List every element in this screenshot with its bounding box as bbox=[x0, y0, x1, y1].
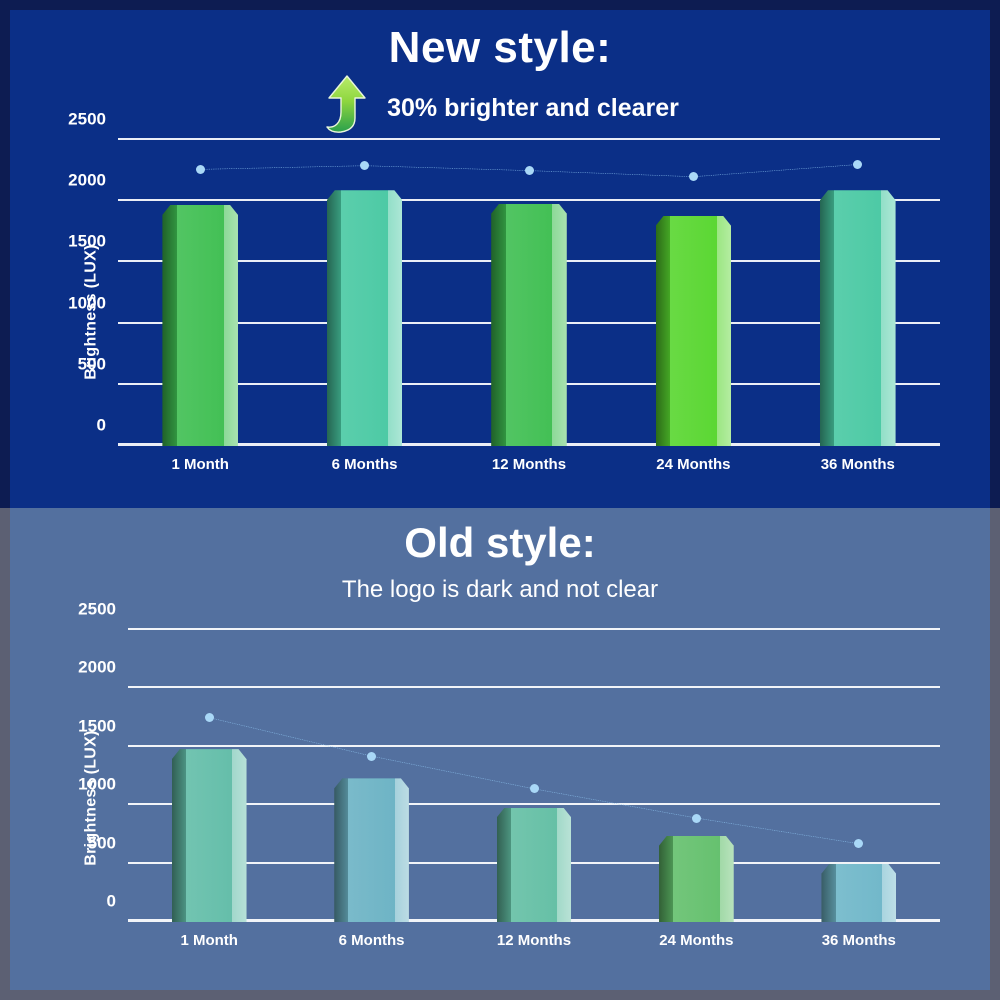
trend-line-marker[interactable] bbox=[525, 166, 534, 175]
trend-line-marker[interactable] bbox=[692, 814, 701, 823]
old-style-panel: Old style: The logo is dark and not clea… bbox=[0, 508, 1000, 1000]
x-axis-tick-label: 36 Months bbox=[778, 932, 940, 949]
trend-line-marker[interactable] bbox=[205, 713, 214, 722]
y-axis-tick-label: 1500 bbox=[68, 232, 106, 252]
x-axis-tick-label: 1 Month bbox=[118, 456, 282, 473]
x-axis-tick-label: 12 Months bbox=[453, 932, 615, 949]
x-axis-tick-label: 6 Months bbox=[290, 932, 452, 949]
trend-line-series bbox=[118, 140, 940, 446]
y-axis-tick-label: 2000 bbox=[68, 171, 106, 191]
y-axis-tick-label: 1500 bbox=[78, 716, 116, 736]
y-axis-tick-label: 2500 bbox=[78, 600, 116, 620]
old-style-title: Old style: bbox=[10, 508, 990, 564]
x-axis-tick-label: 6 Months bbox=[282, 456, 446, 473]
x-axis-tick-label: 12 Months bbox=[447, 456, 611, 473]
new-style-inner: New style: 30% brighter and clearer bbox=[10, 10, 990, 508]
comparison-poster: New style: 30% brighter and clearer bbox=[0, 0, 1000, 1000]
trend-line bbox=[209, 718, 859, 844]
new-style-subtitle: 30% brighter and clearer bbox=[387, 94, 679, 123]
y-axis-tick-label: 0 bbox=[97, 416, 106, 436]
new-style-title: New style: bbox=[10, 10, 990, 70]
old-chart-plot-area: 050010001500200025001 Month6 Months12 Mo… bbox=[128, 630, 940, 922]
trend-line-marker[interactable] bbox=[196, 165, 205, 174]
old-style-inner: Old style: The logo is dark and not clea… bbox=[10, 508, 990, 990]
x-axis-tick-label: 1 Month bbox=[128, 932, 290, 949]
new-chart-plot-area: 050010001500200025001 Month6 Months12 Mo… bbox=[118, 140, 940, 446]
x-axis-tick-label: 24 Months bbox=[611, 456, 775, 473]
y-axis-tick-label: 2500 bbox=[68, 110, 106, 130]
y-axis-tick-label: 1000 bbox=[78, 775, 116, 795]
new-style-header: New style: 30% brighter and clearer bbox=[10, 10, 990, 126]
y-axis-tick-label: 0 bbox=[107, 892, 116, 912]
old-style-chart: Brightness (LUX) 050010001500200025001 M… bbox=[10, 618, 990, 978]
y-axis-tick-label: 1000 bbox=[68, 293, 106, 313]
new-style-chart: Brightness (LUX) 050010001500200025001 M… bbox=[10, 126, 990, 498]
x-axis-tick-label: 24 Months bbox=[615, 932, 777, 949]
old-style-header: Old style: The logo is dark and not clea… bbox=[10, 508, 990, 618]
old-style-subtitle: The logo is dark and not clear bbox=[10, 576, 990, 604]
y-axis-tick-label: 500 bbox=[78, 354, 106, 374]
trend-line-series bbox=[128, 630, 940, 922]
trend-line-marker[interactable] bbox=[530, 784, 539, 793]
x-axis-tick-label: 36 Months bbox=[776, 456, 940, 473]
new-style-panel: New style: 30% brighter and clearer bbox=[0, 0, 1000, 508]
trend-line-marker[interactable] bbox=[367, 752, 376, 761]
y-axis-tick-label: 500 bbox=[88, 833, 116, 853]
y-axis-tick-label: 2000 bbox=[78, 658, 116, 678]
